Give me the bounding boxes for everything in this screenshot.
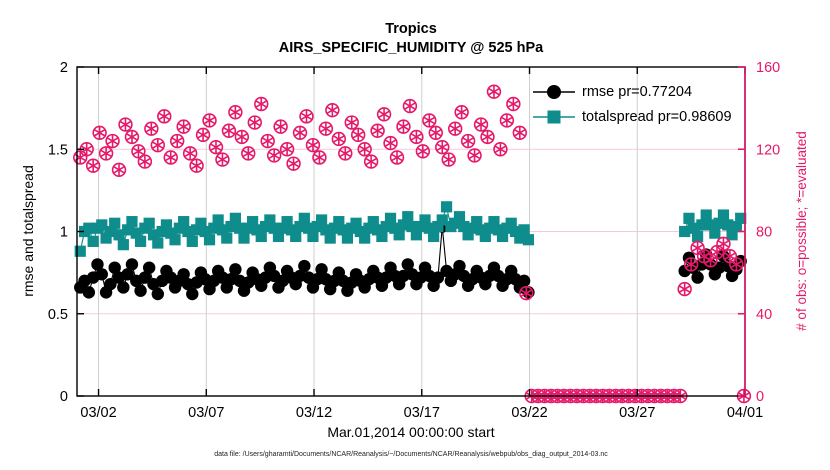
rmse-marker [126, 258, 138, 270]
rmse-marker [134, 285, 146, 297]
y-axis-label-left: rmse and totalspread [20, 165, 36, 297]
totalspread-marker [230, 213, 241, 224]
x-tick-label: 03/27 [619, 405, 655, 421]
totalspread-marker [238, 232, 249, 243]
rmse-marker [229, 263, 241, 275]
rmse-marker [298, 260, 310, 272]
totalspread-marker [135, 236, 146, 247]
totalspread-marker [204, 234, 215, 245]
totalspread-marker [692, 231, 703, 242]
rmse-marker [117, 281, 129, 293]
legend-circle-icon [547, 85, 561, 99]
totalspread-marker [709, 228, 720, 239]
rmse-marker [518, 275, 530, 287]
totalspread-marker [169, 234, 180, 245]
totalspread-marker [152, 237, 163, 248]
rmse-marker [83, 286, 95, 298]
rmse-marker [186, 288, 198, 300]
legend-item[interactable]: rmse pr=0.77204 [533, 84, 692, 100]
totalspread-marker [342, 232, 353, 243]
totalspread-marker [428, 231, 439, 242]
legend-square-icon [548, 111, 561, 124]
y-tick-label-right: 160 [756, 60, 780, 76]
totalspread-marker [88, 236, 99, 247]
x-tick-label: 03/22 [511, 405, 547, 421]
y-tick-label-right: 80 [756, 225, 772, 241]
totalspread-marker [385, 213, 396, 224]
totalspread-marker [376, 231, 387, 242]
totalspread-marker [718, 209, 729, 220]
totalspread-marker [256, 231, 267, 242]
totalspread-marker [325, 232, 336, 243]
totalspread-marker [523, 234, 534, 245]
totalspread-marker [221, 232, 232, 243]
y-axis-label-right: # of obs: o=possible; *=evaluated [794, 131, 809, 331]
totalspread-marker [701, 209, 712, 220]
totalspread-marker [187, 236, 198, 247]
y-tick-label-left: 1 [60, 225, 68, 241]
rmse-marker [143, 261, 155, 273]
totalspread-marker [394, 229, 405, 240]
totalspread-marker [441, 201, 452, 212]
totalspread-marker [126, 216, 137, 227]
legend-label: rmse pr=0.77204 [582, 84, 692, 100]
rmse-marker [152, 288, 164, 300]
totalspread-marker [683, 213, 694, 224]
chart-title-line1: Tropics [385, 21, 437, 37]
rmse-marker [691, 271, 703, 283]
data-file-footer: data file: /Users/gharamti/Documents/NCA… [214, 451, 608, 458]
totalspread-marker [519, 224, 530, 235]
totalspread-marker [178, 216, 189, 227]
totalspread-marker [402, 211, 413, 222]
x-tick-label: 04/01 [727, 405, 763, 421]
x-tick-label: 03/02 [80, 405, 116, 421]
totalspread-marker [118, 239, 129, 250]
totalspread-marker [316, 214, 327, 225]
x-tick-label: 03/07 [188, 405, 224, 421]
y-tick-label-right: 0 [756, 389, 764, 405]
totalspread-marker [144, 218, 155, 229]
y-tick-label-right: 40 [756, 307, 772, 323]
x-axis-label: Mar.01,2014 00:00:00 start [327, 424, 494, 440]
x-tick-label: 03/17 [404, 405, 440, 421]
totalspread-marker [213, 214, 224, 225]
x-tick-label: 03/12 [296, 405, 332, 421]
totalspread-marker [299, 213, 310, 224]
totalspread-marker [307, 231, 318, 242]
y-tick-label-left: 1.5 [48, 142, 68, 158]
y-tick-label-right: 120 [756, 142, 780, 158]
totalspread-marker [290, 231, 301, 242]
observation-diagnostics-figure: Tropics AIRS_SPECIFIC_HUMIDITY @ 525 hPa… [0, 0, 830, 470]
legend-label: totalspread pr=0.98609 [582, 109, 732, 125]
totalspread-marker [109, 218, 120, 229]
chart-title-line2: AIRS_SPECIFIC_HUMIDITY @ 525 hPa [279, 40, 544, 56]
y-tick-label-left: 0 [60, 389, 68, 405]
y-tick-label-left: 0.5 [48, 307, 68, 323]
totalspread-marker [359, 232, 370, 243]
rmse-marker [96, 268, 108, 280]
y-tick-label-left: 2 [60, 60, 68, 76]
totalspread-marker [454, 211, 465, 222]
